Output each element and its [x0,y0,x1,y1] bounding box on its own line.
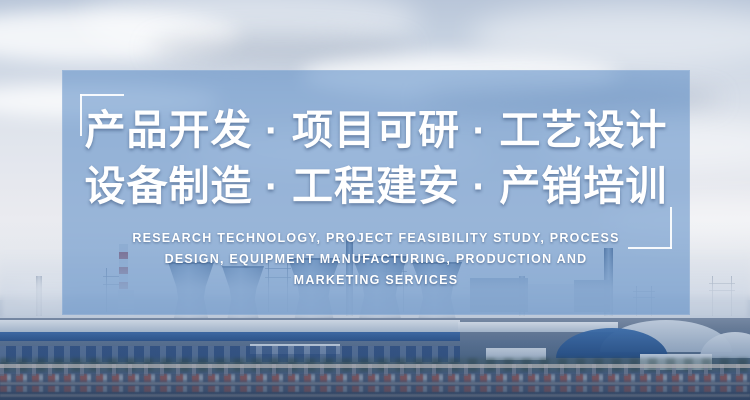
headline-line-1: 产品开发 · 项目可研 · 工艺设计 [62,102,690,158]
subtitle-line-2: DESIGN, EQUIPMENT MANUFACTURING, PRODUCT… [118,249,634,270]
promo-banner: 产品开发 · 项目可研 · 工艺设计 设备制造 · 工程建安 · 产销培训 RE… [0,0,750,400]
headline: 产品开发 · 项目可研 · 工艺设计 设备制造 · 工程建安 · 产销培训 [62,102,690,214]
subtitle: RESEARCH TECHNOLOGY, PROJECT FEASIBILITY… [118,228,634,291]
subtitle-line-3: MARKETING SERVICES [118,270,634,291]
foreground-shadow [0,374,750,400]
subtitle-line-1: RESEARCH TECHNOLOGY, PROJECT FEASIBILITY… [118,228,634,249]
overlay-panel: 产品开发 · 项目可研 · 工艺设计 设备制造 · 工程建安 · 产销培训 RE… [62,70,690,315]
warehouse-wall [0,332,460,341]
headline-line-2: 设备制造 · 工程建安 · 产销培训 [62,158,690,214]
warehouse-roof [0,320,460,332]
